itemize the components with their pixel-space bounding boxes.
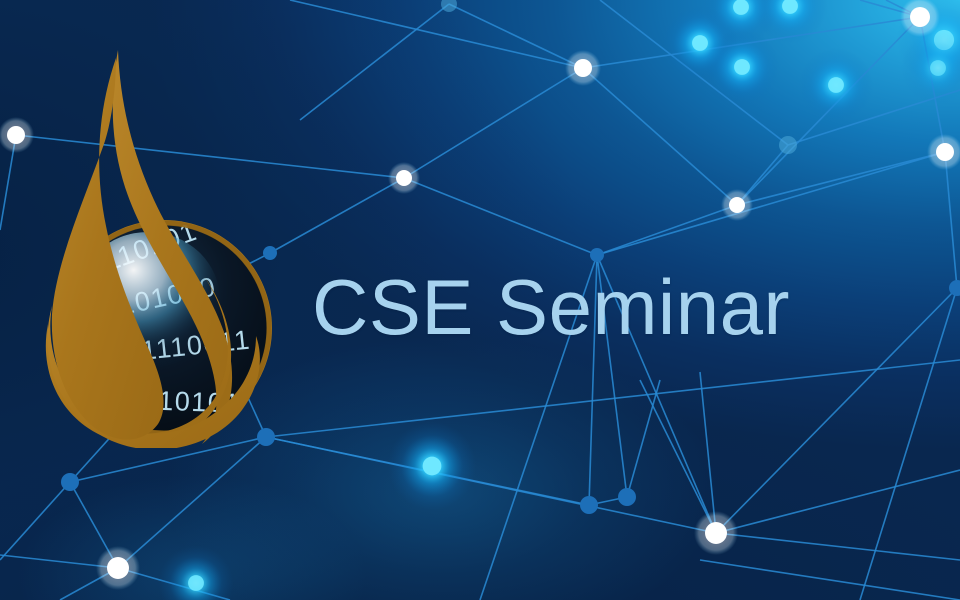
network-edge bbox=[290, 0, 583, 68]
node-5 bbox=[910, 7, 930, 27]
node-16 bbox=[618, 488, 636, 506]
node-13 bbox=[580, 496, 598, 514]
network-edge bbox=[627, 380, 660, 497]
network-edge bbox=[266, 360, 960, 437]
network-edge bbox=[700, 372, 716, 533]
node-11 bbox=[779, 136, 797, 154]
network-edge bbox=[0, 482, 70, 560]
glow-7 bbox=[930, 60, 946, 76]
glow-9 bbox=[188, 575, 204, 591]
network-edge bbox=[860, 288, 957, 600]
node-1 bbox=[7, 126, 25, 144]
banner-title: CSE Seminar bbox=[312, 268, 790, 346]
network-edge bbox=[716, 533, 960, 560]
network-edge bbox=[737, 152, 945, 205]
network-edge bbox=[266, 437, 716, 533]
node-14 bbox=[441, 0, 457, 12]
network-edge bbox=[300, 4, 449, 120]
network-edge bbox=[404, 68, 583, 178]
glow-8 bbox=[423, 457, 442, 476]
lehigh-flame-logo: 110101101 1010110101 10110101010 0101101… bbox=[44, 48, 304, 448]
glow-5 bbox=[828, 77, 844, 93]
network-edge bbox=[945, 152, 957, 288]
network-edge bbox=[716, 470, 960, 533]
glow-9-halo bbox=[159, 546, 234, 600]
node-8 bbox=[107, 557, 129, 579]
network-edge bbox=[404, 178, 597, 255]
glow-1 bbox=[692, 35, 708, 51]
network-edge bbox=[640, 380, 716, 533]
network-edge bbox=[449, 4, 583, 68]
node-15 bbox=[61, 473, 79, 491]
node-9 bbox=[590, 248, 604, 262]
network-edge bbox=[597, 205, 737, 255]
node-3 bbox=[574, 59, 592, 77]
node-7 bbox=[705, 522, 727, 544]
node-4 bbox=[729, 197, 745, 213]
network-edge bbox=[597, 152, 945, 255]
cse-seminar-banner: 110101101 1010110101 10110101010 0101101… bbox=[0, 0, 960, 600]
glow-2 bbox=[734, 59, 750, 75]
network-edge bbox=[700, 560, 960, 600]
node-6 bbox=[936, 143, 954, 161]
node-2 bbox=[396, 170, 412, 186]
